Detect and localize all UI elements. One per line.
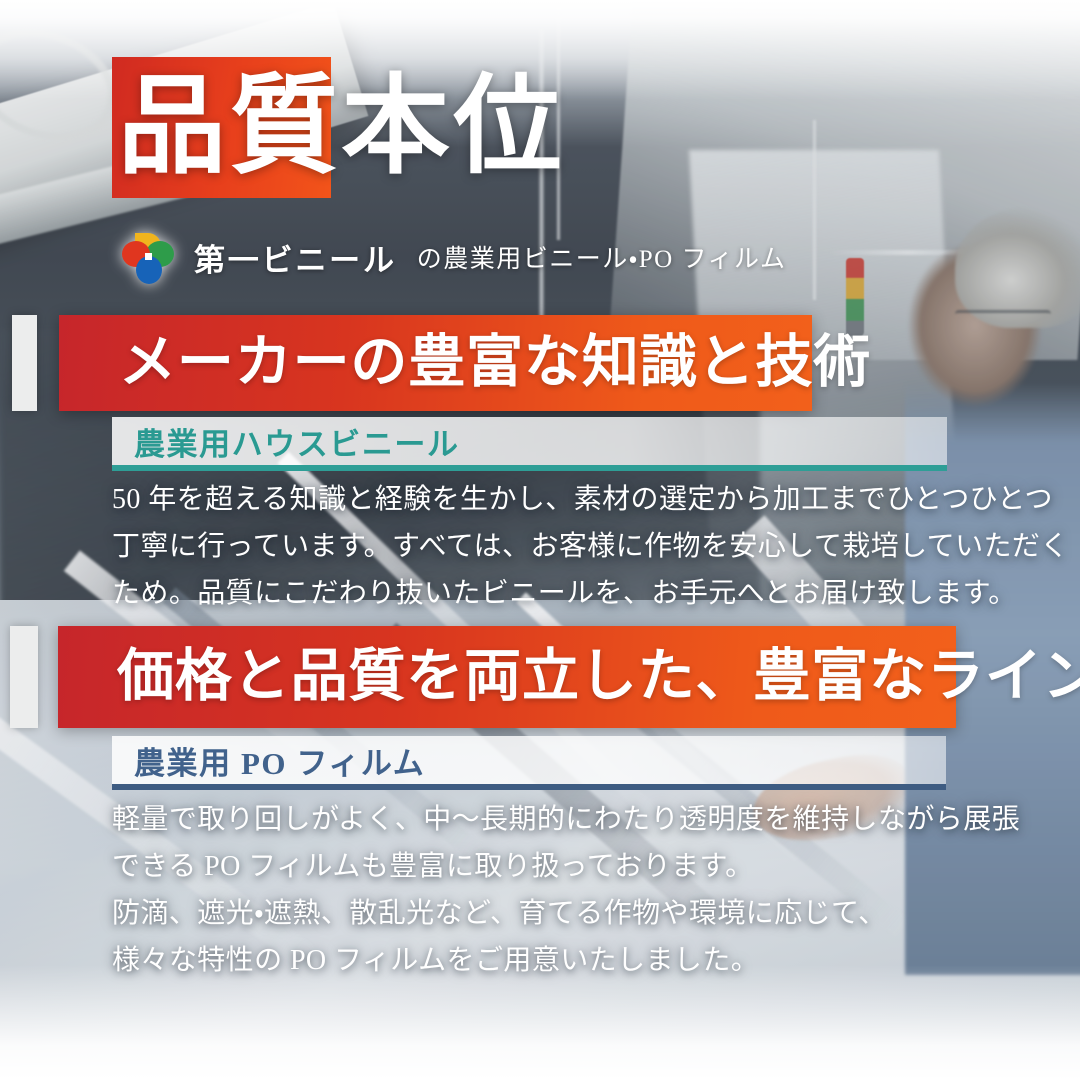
page-title: 品質本位 [112, 57, 565, 198]
subheading-band-1: 農業用ハウスビニール [112, 417, 947, 471]
banner-left-marker-1 [12, 315, 37, 411]
banner-left-marker-2 [10, 626, 38, 728]
section-heading-1: メーカーの豊富な知識と技術 [59, 315, 812, 411]
section-paragraph-1: 50 年を超える知識と経験を生かし、素材の選定から加工までひとつひとつ 丁寧に行… [112, 476, 1069, 617]
banner-bar-1: メーカーの豊富な知識と技術 [59, 315, 812, 411]
promo-banner-canvas: 品質本位 第一ビニール の農業用ビニール・PO フィルム メーカーの豊富 [0, 0, 1080, 1080]
four-petal-pinwheel-logo-icon [118, 228, 178, 286]
hero-title-block: 品質本位 [112, 57, 565, 198]
subheading-band-2: 農業用 PO フィルム [112, 736, 946, 790]
paragraph-line: 軽量で取り回しがよく、中～長期的にわたり透明度を維持しながら展張 [112, 796, 1020, 843]
paragraph-line: ため。品質にこだわり抜いたビニールを、お手元へとお届け致します。 [112, 570, 1069, 617]
subheading-label-1: 農業用ハウスビニール [112, 419, 460, 464]
content-overlay: 品質本位 第一ビニール の農業用ビニール・PO フィルム メーカーの豊富 [0, 0, 1080, 1080]
section-paragraph-2: 軽量で取り回しがよく、中～長期的にわたり透明度を維持しながら展張 できる PO … [112, 796, 1020, 984]
paragraph-line: 防滴、遮光・遮熱、散乱光など、育てる作物や環境に応じて、 [112, 890, 1020, 937]
banner-bar-2: 価格と品質を両立した、豊富なラインナップ [58, 626, 956, 728]
brand-tagline: の農業用ビニール・PO フィルム [413, 239, 787, 275]
paragraph-line: 丁寧に行っています。すべては、お客様に作物を安心して栽培していただく [112, 523, 1069, 570]
paragraph-line: 50 年を超える知識と経験を生かし、素材の選定から加工までひとつひとつ [112, 476, 1069, 523]
paragraph-line: できる PO フィルムも豊富に取り扱っております。 [112, 843, 1020, 890]
subheading-label-2: 農業用 PO フィルム [112, 738, 425, 783]
section-heading-2: 価格と品質を両立した、豊富なラインナップ [58, 626, 956, 728]
section-banner-2: 価格と品質を両立した、豊富なラインナップ [10, 626, 956, 728]
section-banner-1: メーカーの豊富な知識と技術 [12, 315, 812, 411]
brand-line: 第一ビニール の農業用ビニール・PO フィルム [118, 226, 786, 288]
paragraph-line: 様々な特性の PO フィルムをご用意いたしました。 [112, 937, 1020, 984]
brand-name: 第一ビニール [194, 235, 397, 280]
